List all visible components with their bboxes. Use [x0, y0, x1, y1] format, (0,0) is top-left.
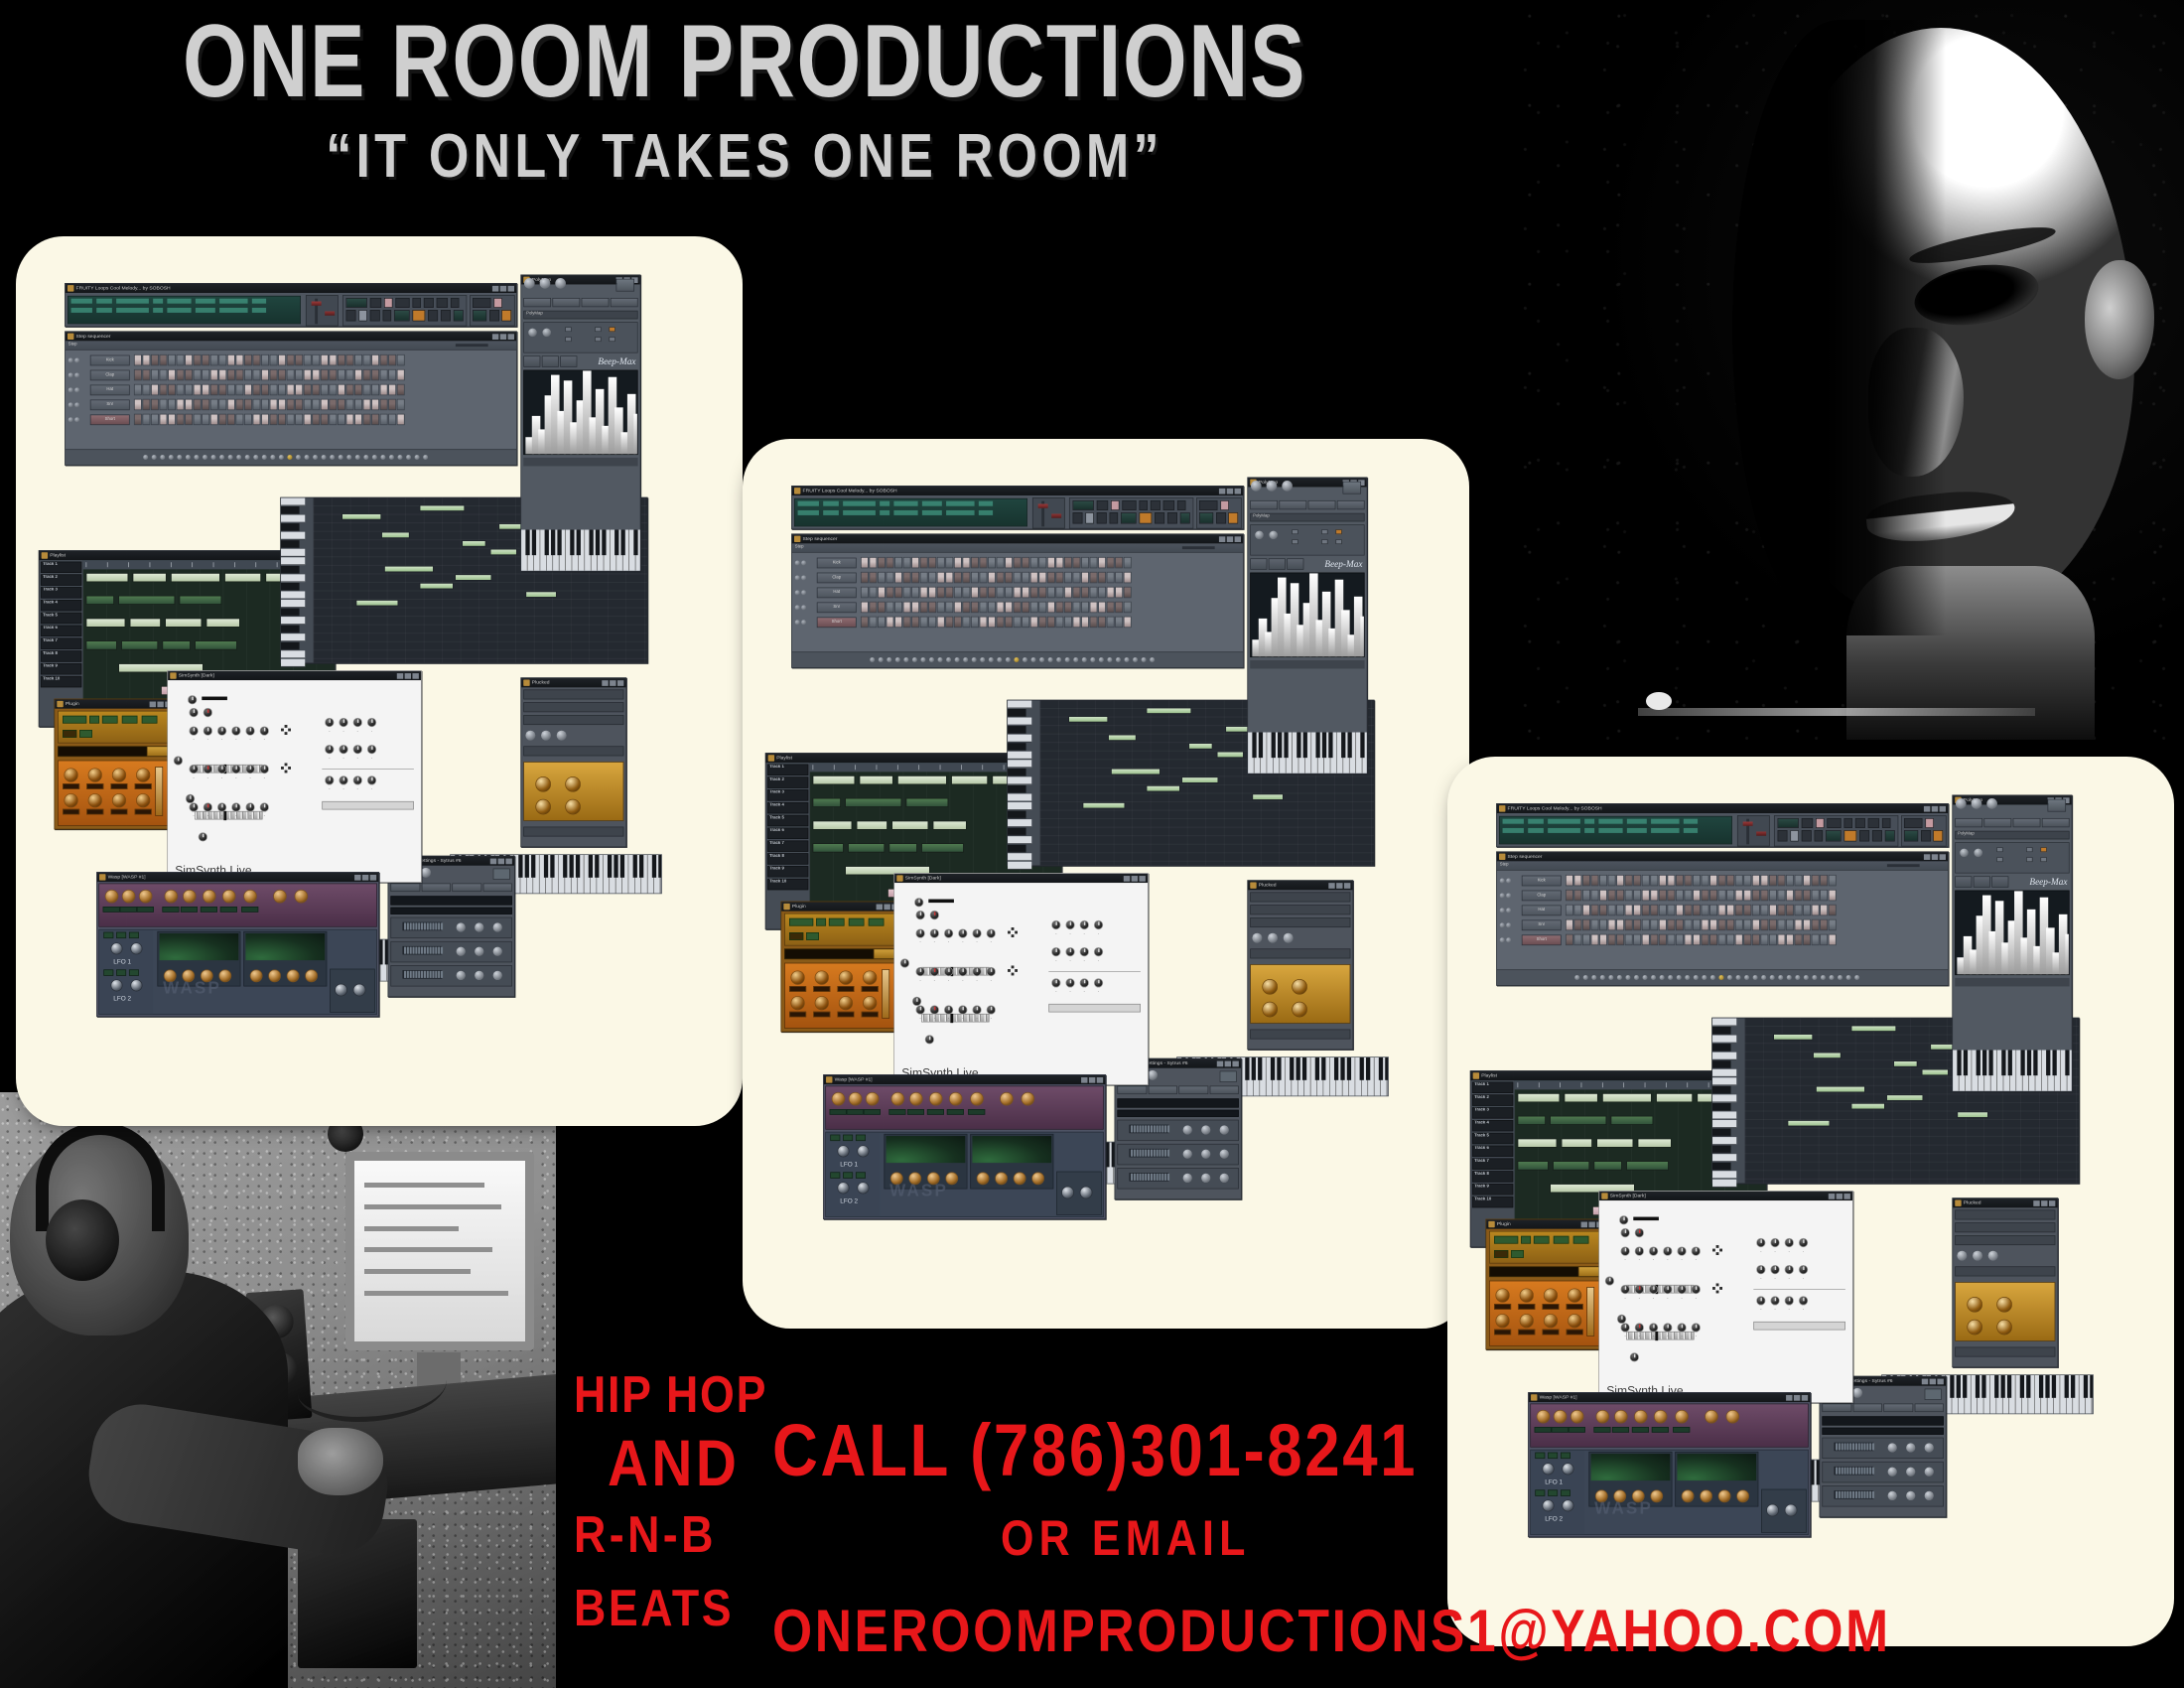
- sequencer-step[interactable]: [168, 384, 176, 395]
- sequencer-step[interactable]: [338, 369, 345, 380]
- sequencer-step[interactable]: [304, 384, 312, 395]
- sequencer-step[interactable]: [151, 354, 159, 365]
- sequencer-step[interactable]: [363, 399, 371, 410]
- wasp-knob[interactable]: [222, 890, 236, 904]
- plugin-knob[interactable]: [1495, 1288, 1509, 1302]
- synth-knob[interactable]: [1065, 978, 1074, 987]
- sequencer-step[interactable]: [1005, 572, 1013, 583]
- piano-roll-note[interactable]: [1217, 752, 1244, 758]
- sequencer-step[interactable]: [1702, 890, 1709, 901]
- wasp-lfo-panel[interactable]: LFO 1 LFO 2: [99, 930, 153, 1015]
- sequencer-step[interactable]: [244, 399, 252, 410]
- wasp-env-knob[interactable]: [1014, 1172, 1026, 1185]
- sequencer-step[interactable]: [371, 354, 379, 365]
- synth-knob[interactable]: [972, 1005, 981, 1014]
- plugin-row[interactable]: [523, 746, 623, 756]
- synth-preset-strip[interactable]: [1753, 1322, 1845, 1331]
- sequencer-step[interactable]: [1608, 919, 1616, 930]
- playlist-track-label[interactable]: Track 8: [767, 853, 808, 864]
- wasp-env-knob[interactable]: [305, 969, 318, 982]
- plucked-plugin-panel[interactable]: [1955, 1282, 2055, 1341]
- daw-window-w-toolbar[interactable]: FRUITY Loops Cool Melody... by SOBOSH: [1496, 803, 1949, 847]
- sequencer-step[interactable]: [1566, 875, 1573, 886]
- window-titlebar[interactable]: FRUITY Loops Cool Melody... by SOBOSH: [792, 487, 1243, 495]
- sequencer-step[interactable]: [253, 354, 261, 365]
- wasp-knob[interactable]: [866, 1092, 880, 1106]
- master-fader[interactable]: [1737, 815, 1770, 846]
- synth-dpad[interactable]: [1008, 927, 1018, 937]
- synth-knob[interactable]: [1635, 1323, 1644, 1332]
- sequencer-step[interactable]: [1022, 572, 1029, 583]
- plugin-knob[interactable]: [839, 970, 853, 984]
- sequencer-step[interactable]: [1659, 875, 1667, 886]
- playlist-clip[interactable]: [857, 821, 887, 830]
- sequencer-step[interactable]: [304, 399, 312, 410]
- synth-knob[interactable]: [1756, 1265, 1765, 1274]
- sequencer-step[interactable]: [1599, 890, 1607, 901]
- sequencer-step[interactable]: [1566, 890, 1573, 901]
- sequencer-step[interactable]: [210, 399, 218, 410]
- synth-dpad[interactable]: [1008, 965, 1018, 975]
- sequencer-step[interactable]: [1769, 905, 1777, 915]
- window-titlebar[interactable]: FRUITY Loops Cool Melody... by SOBOSH: [66, 284, 516, 293]
- channel-knobs[interactable]: [1500, 893, 1520, 898]
- plugin-knob[interactable]: [1268, 933, 1278, 943]
- playlist-clip[interactable]: [180, 596, 222, 605]
- sequencer-step[interactable]: [928, 602, 936, 613]
- wasp-knob[interactable]: [183, 890, 197, 904]
- sequencer-step[interactable]: [911, 572, 919, 583]
- sequencer-step[interactable]: [1803, 890, 1811, 901]
- sequencer-step[interactable]: [894, 587, 902, 598]
- playlist-track-label[interactable]: Track 6: [767, 828, 808, 839]
- sequencer-step[interactable]: [253, 369, 261, 380]
- wasp-osc-panel[interactable]: [825, 1086, 1104, 1130]
- sequencer-step[interactable]: [1752, 875, 1760, 886]
- sequencer-step[interactable]: [202, 399, 209, 410]
- window-titlebar[interactable]: Plugin: [781, 902, 900, 911]
- synth-knob[interactable]: [915, 911, 924, 919]
- sequencer-step[interactable]: [878, 587, 886, 598]
- plucked-plugin-panel[interactable]: [523, 762, 623, 821]
- synth-dpad[interactable]: [1712, 1283, 1722, 1293]
- sequencer-step[interactable]: [194, 399, 202, 410]
- sequencer-step[interactable]: [1073, 572, 1081, 583]
- sequencer-step[interactable]: [887, 617, 894, 628]
- sequencer-step[interactable]: [1014, 557, 1022, 568]
- plugin-knob[interactable]: [790, 996, 804, 1010]
- sequencer-step[interactable]: [185, 384, 193, 395]
- piano-roll-note[interactable]: [1788, 1120, 1831, 1126]
- synth-knob[interactable]: [189, 765, 198, 774]
- synth-knob[interactable]: [1649, 1285, 1658, 1294]
- sequencer-step[interactable]: [869, 572, 877, 583]
- playlist-track-label[interactable]: Track 4: [1472, 1120, 1513, 1131]
- synth-knob[interactable]: [367, 718, 376, 727]
- wasp-lfo-panel[interactable]: LFO 1 LFO 2: [826, 1133, 880, 1217]
- sequencer-step[interactable]: [168, 399, 176, 410]
- sequencer-step[interactable]: [380, 369, 388, 380]
- sequencer-step[interactable]: [329, 399, 337, 410]
- sequencer-step[interactable]: [312, 354, 320, 365]
- synth-knob[interactable]: [231, 765, 240, 774]
- sequencer-step[interactable]: [321, 414, 329, 425]
- sequencer-step[interactable]: [304, 369, 312, 380]
- sequencer-step[interactable]: [1064, 572, 1072, 583]
- sequencer-step[interactable]: [1005, 587, 1013, 598]
- sequencer-step[interactable]: [971, 572, 979, 583]
- piano-roll-note[interactable]: [1188, 743, 1212, 749]
- sequencer-step[interactable]: [1055, 557, 1063, 568]
- piano-roll-note[interactable]: [1147, 785, 1180, 791]
- sequencer-step[interactable]: [1685, 934, 1693, 945]
- sequencer-step[interactable]: [1676, 905, 1684, 915]
- wasp-knob[interactable]: [1022, 1092, 1035, 1106]
- sequencer-step[interactable]: [1625, 934, 1633, 945]
- synth-knob[interactable]: [1051, 978, 1060, 987]
- sequencer-step[interactable]: [1743, 934, 1751, 945]
- synth-knob[interactable]: [1635, 1246, 1644, 1255]
- sequencer-step[interactable]: [388, 399, 396, 410]
- synth-knob[interactable]: [245, 726, 254, 735]
- synth-osc1-knob[interactable]: [900, 958, 909, 967]
- plugin-knobs[interactable]: [524, 278, 566, 289]
- sequencer-step[interactable]: [210, 369, 218, 380]
- sequencer-step[interactable]: [1820, 934, 1828, 945]
- plugin-tabs[interactable]: [523, 298, 637, 307]
- step-grid[interactable]: [134, 414, 405, 425]
- plugin-knob[interactable]: [64, 768, 77, 781]
- playlist-clip[interactable]: [86, 619, 126, 628]
- sequencer-step[interactable]: [151, 414, 159, 425]
- sequencer-step[interactable]: [397, 354, 405, 365]
- sequencer-step[interactable]: [235, 369, 243, 380]
- sequencer-step[interactable]: [937, 602, 945, 613]
- plugin-knob[interactable]: [1252, 933, 1262, 943]
- daw-window-w-wasp[interactable]: Wasp [WASP #1] LFO 1 LFO 2 WASP: [1528, 1392, 1811, 1537]
- step-grid[interactable]: [134, 399, 405, 410]
- sequencer-step[interactable]: [1667, 934, 1675, 945]
- sequencer-step[interactable]: [261, 384, 269, 395]
- sequencer-step[interactable]: [1047, 572, 1055, 583]
- sequencer-step[interactable]: [1667, 875, 1675, 886]
- playlist-clip[interactable]: [86, 596, 114, 605]
- sequencer-step[interactable]: [312, 384, 320, 395]
- synth-knob[interactable]: [944, 967, 953, 976]
- wasp-knob[interactable]: [105, 890, 119, 904]
- sequencer-step[interactable]: [218, 399, 226, 410]
- synth-knob[interactable]: [1770, 1296, 1779, 1305]
- synth-knob[interactable]: [353, 745, 362, 754]
- sequencer-step[interactable]: [1778, 890, 1786, 901]
- synth-knob[interactable]: [231, 802, 240, 811]
- daw-window-w-env[interactable]: PolyMap PolyMap Beep-Max: [1247, 477, 1367, 774]
- sequencer-step[interactable]: [1573, 890, 1581, 901]
- osc-row-2[interactable]: [390, 941, 511, 962]
- playlist-clip[interactable]: [165, 619, 202, 628]
- sequencer-step[interactable]: [1642, 919, 1650, 930]
- sequencer-step[interactable]: [1718, 890, 1726, 901]
- plugin-row[interactable]: [1250, 948, 1350, 958]
- playlist-clip[interactable]: [133, 573, 167, 582]
- sequencer-step[interactable]: [388, 369, 396, 380]
- sequencer-step[interactable]: [1709, 934, 1717, 945]
- wasp-env-knob[interactable]: [995, 1172, 1008, 1185]
- synth-knob[interactable]: [325, 718, 334, 727]
- synth-preset-strip[interactable]: [322, 801, 414, 810]
- sequencer-step[interactable]: [1726, 890, 1734, 901]
- wasp-knob[interactable]: [929, 1092, 943, 1106]
- sequencer-step[interactable]: [1786, 890, 1794, 901]
- sequencer-step[interactable]: [980, 602, 988, 613]
- synth-knob[interactable]: [1051, 947, 1060, 956]
- piano-roll-note[interactable]: [1893, 1060, 1917, 1066]
- synth-osc1-knob[interactable]: [1605, 1276, 1614, 1285]
- plugin-knob[interactable]: [839, 996, 853, 1010]
- sequencer-step[interactable]: [1752, 890, 1760, 901]
- sequencer-step[interactable]: [1030, 587, 1038, 598]
- channel-knobs[interactable]: [795, 605, 815, 610]
- sequencer-step[interactable]: [1735, 890, 1743, 901]
- sequencer-step[interactable]: [151, 384, 159, 395]
- sequencer-step[interactable]: [1616, 890, 1624, 901]
- sequencer-step[interactable]: [1760, 919, 1768, 930]
- synth-knob[interactable]: [1770, 1265, 1779, 1274]
- sequencer-step[interactable]: [177, 399, 185, 410]
- synth-knob[interactable]: [987, 928, 996, 937]
- sequencer-step[interactable]: [160, 354, 168, 365]
- sequencer-step[interactable]: [971, 617, 979, 628]
- sequencer-step[interactable]: [1055, 617, 1063, 628]
- sequencer-step[interactable]: [945, 587, 953, 598]
- synth-knob[interactable]: [1094, 978, 1103, 987]
- sequencer-step[interactable]: [887, 572, 894, 583]
- sequencer-step[interactable]: [887, 557, 894, 568]
- sequencer-step[interactable]: [1055, 587, 1063, 598]
- piano-roll-note[interactable]: [525, 591, 556, 597]
- plucked-plugin-panel[interactable]: [1250, 964, 1350, 1024]
- sequencer-step[interactable]: [1693, 905, 1701, 915]
- playlist-track-label[interactable]: Track 5: [41, 613, 81, 624]
- sequencer-step[interactable]: [1633, 919, 1641, 930]
- sequencer-step[interactable]: [878, 572, 886, 583]
- sequencer-step[interactable]: [911, 557, 919, 568]
- sequencer-step[interactable]: [227, 354, 235, 365]
- daw-window-w-side[interactable]: Plucked: [1247, 880, 1353, 1050]
- channel-knobs[interactable]: [68, 372, 88, 377]
- sequencer-step[interactable]: [980, 572, 988, 583]
- wasp-env-knob[interactable]: [977, 1172, 990, 1185]
- plugin-knob[interactable]: [88, 768, 102, 781]
- sequencer-step[interactable]: [1064, 617, 1072, 628]
- sequencer-step[interactable]: [304, 354, 312, 365]
- sequencer-step[interactable]: [1693, 919, 1701, 930]
- synth-knob[interactable]: [217, 765, 226, 774]
- sequencer-step[interactable]: [1743, 919, 1751, 930]
- sequencer-step[interactable]: [160, 369, 168, 380]
- sequencer-step[interactable]: [261, 414, 269, 425]
- plugin-knob[interactable]: [88, 793, 102, 807]
- piano-roll-note[interactable]: [356, 600, 399, 606]
- sequencer-step[interactable]: [134, 399, 142, 410]
- plugin-tabs[interactable]: [390, 884, 511, 893]
- playlist-clip[interactable]: [951, 775, 988, 784]
- piano-roll-note[interactable]: [1816, 1086, 1865, 1092]
- sequencer-step[interactable]: [1098, 587, 1106, 598]
- sequencer-step[interactable]: [210, 414, 218, 425]
- sequencer-step[interactable]: [287, 414, 295, 425]
- sequencer-step[interactable]: [1795, 890, 1803, 901]
- sequencer-step[interactable]: [278, 384, 286, 395]
- plugin-knobs[interactable]: [1956, 798, 1997, 809]
- piano-roll-note[interactable]: [384, 566, 434, 572]
- sequencer-step[interactable]: [134, 354, 142, 365]
- sequencer-step[interactable]: [971, 557, 979, 568]
- sequencer-step[interactable]: [244, 354, 252, 365]
- sequencer-step[interactable]: [1030, 557, 1038, 568]
- playlist-track-label[interactable]: Track 9: [1472, 1184, 1513, 1195]
- sequencer-step[interactable]: [1599, 875, 1607, 886]
- sequencer-step[interactable]: [1107, 617, 1115, 628]
- playlist-track-label[interactable]: Track 7: [1472, 1158, 1513, 1169]
- plugin-row[interactable]: [1250, 917, 1350, 927]
- promo-email-address[interactable]: ONEROOMPRODUCTIONS1@YAHOO.COM: [772, 1597, 1891, 1665]
- synth-dpad[interactable]: [1712, 1245, 1722, 1255]
- sequencer-step[interactable]: [1566, 905, 1573, 915]
- sequencer-step[interactable]: [1005, 557, 1013, 568]
- synth-knob[interactable]: [204, 765, 212, 774]
- sequencer-step[interactable]: [1803, 919, 1811, 930]
- synth-knob[interactable]: [1080, 947, 1089, 956]
- sequencer-step[interactable]: [1573, 905, 1581, 915]
- plugin-fader[interactable]: [155, 767, 163, 816]
- sequencer-step[interactable]: [1599, 905, 1607, 915]
- step-grid[interactable]: [861, 572, 1132, 583]
- sequencer-step[interactable]: [945, 602, 953, 613]
- window-titlebar[interactable]: Plucked: [1953, 1198, 2057, 1207]
- sequencer-step[interactable]: [1760, 890, 1768, 901]
- sequencer-step[interactable]: [1047, 557, 1055, 568]
- window-titlebar[interactable]: Plugin: [1486, 1219, 1605, 1228]
- sequencer-step[interactable]: [1038, 602, 1046, 613]
- sequencer-step[interactable]: [151, 399, 159, 410]
- sequencer-step[interactable]: [1090, 587, 1098, 598]
- sequencer-step[interactable]: [1726, 934, 1734, 945]
- sequencer-step[interactable]: [1743, 905, 1751, 915]
- promo-call-phone[interactable]: CALL (786)301-8241: [772, 1408, 1418, 1492]
- plugin-row[interactable]: [1250, 1030, 1350, 1040]
- sequencer-step[interactable]: [278, 369, 286, 380]
- window-buttons[interactable]: [1124, 876, 1146, 882]
- sequencer-step[interactable]: [1659, 919, 1667, 930]
- channel-knobs[interactable]: [68, 417, 88, 422]
- sequencer-step[interactable]: [878, 617, 886, 628]
- sequencer-step[interactable]: [295, 384, 303, 395]
- sequencer-step[interactable]: [1566, 919, 1573, 930]
- sequencer-step[interactable]: [312, 414, 320, 425]
- sequencer-step[interactable]: [1633, 934, 1641, 945]
- window-titlebar[interactable]: Step sequencer: [1497, 852, 1948, 861]
- sequencer-step[interactable]: [903, 587, 911, 598]
- playlist-clip[interactable]: [224, 573, 261, 582]
- piano-roll-note[interactable]: [490, 549, 517, 555]
- sequencer-step[interactable]: [1064, 587, 1072, 598]
- playlist-clip[interactable]: [888, 843, 916, 852]
- plugin-row[interactable]: [1250, 892, 1350, 902]
- window-buttons[interactable]: [1924, 854, 1946, 860]
- toolbar-extra-panel[interactable]: [1196, 497, 1242, 528]
- synth-knob[interactable]: [1620, 1323, 1629, 1332]
- sequencer-step[interactable]: [988, 572, 996, 583]
- piano-roll-note[interactable]: [420, 505, 466, 511]
- synth-knob[interactable]: [260, 726, 269, 735]
- sequencer-step[interactable]: [1650, 905, 1658, 915]
- synth-knob[interactable]: [339, 775, 347, 784]
- sequencer-step[interactable]: [194, 414, 202, 425]
- plugin-tabs[interactable]: [1822, 1404, 1943, 1413]
- transport-panel[interactable]: [1069, 497, 1193, 528]
- plugin-knob[interactable]: [1568, 1314, 1581, 1328]
- plugin-row[interactable]: [1955, 1235, 2055, 1245]
- sequencer-step[interactable]: [142, 414, 150, 425]
- wasp-knob[interactable]: [949, 1092, 963, 1106]
- channel-knobs[interactable]: [1500, 908, 1520, 913]
- sequencer-step[interactable]: [1090, 572, 1098, 583]
- sequencer-step[interactable]: [1709, 890, 1717, 901]
- sequencer-step[interactable]: [1047, 587, 1055, 598]
- sequencer-step[interactable]: [1752, 919, 1760, 930]
- playlist-clip[interactable]: [1638, 1139, 1672, 1148]
- plugin-row[interactable]: [523, 827, 623, 837]
- synth-knob[interactable]: [1799, 1238, 1808, 1247]
- wasp-envelope-B[interactable]: [970, 1134, 1053, 1190]
- synth-knob[interactable]: [1094, 947, 1103, 956]
- sequencer-step[interactable]: [1786, 919, 1794, 930]
- sequencer-step[interactable]: [134, 369, 142, 380]
- sequencer-step[interactable]: [954, 587, 962, 598]
- sequencer-step[interactable]: [244, 414, 252, 425]
- sequencer-step[interactable]: [954, 572, 962, 583]
- playlist-track-label[interactable]: Track 10: [1472, 1196, 1513, 1207]
- sequencer-step[interactable]: [1124, 602, 1132, 613]
- synth-knob[interactable]: [189, 726, 198, 735]
- sequencer-step[interactable]: [363, 414, 371, 425]
- sequencer-step[interactable]: [903, 617, 911, 628]
- synth-knob[interactable]: [1065, 920, 1074, 929]
- channel-name[interactable]: Snr: [1522, 919, 1562, 930]
- channel-name[interactable]: Kick: [817, 557, 857, 568]
- sequencer-step[interactable]: [1820, 890, 1828, 901]
- sequencer-step[interactable]: [937, 587, 945, 598]
- sequencer-step[interactable]: [354, 414, 362, 425]
- sequencer-footer-knobs[interactable]: [1497, 969, 1948, 985]
- window-titlebar[interactable]: Wasp [WASP #1]: [824, 1075, 1105, 1084]
- synth-knob[interactable]: [987, 967, 996, 976]
- playlist-clip[interactable]: [195, 640, 237, 649]
- wasp-knob[interactable]: [1705, 1410, 1718, 1424]
- synth-knob[interactable]: [1785, 1265, 1794, 1274]
- sequencer-step[interactable]: [962, 572, 970, 583]
- sequencer-step[interactable]: [1582, 890, 1590, 901]
- playlist-track-label[interactable]: Track 7: [41, 637, 81, 648]
- sequencer-step[interactable]: [1124, 587, 1132, 598]
- sequencer-step[interactable]: [177, 354, 185, 365]
- playlist-track-label[interactable]: Track 10: [41, 676, 81, 687]
- plugin-knob[interactable]: [1520, 1288, 1534, 1302]
- sequencer-step[interactable]: [1633, 890, 1641, 901]
- sequencer-step[interactable]: [945, 617, 953, 628]
- sequencer-step[interactable]: [1795, 919, 1803, 930]
